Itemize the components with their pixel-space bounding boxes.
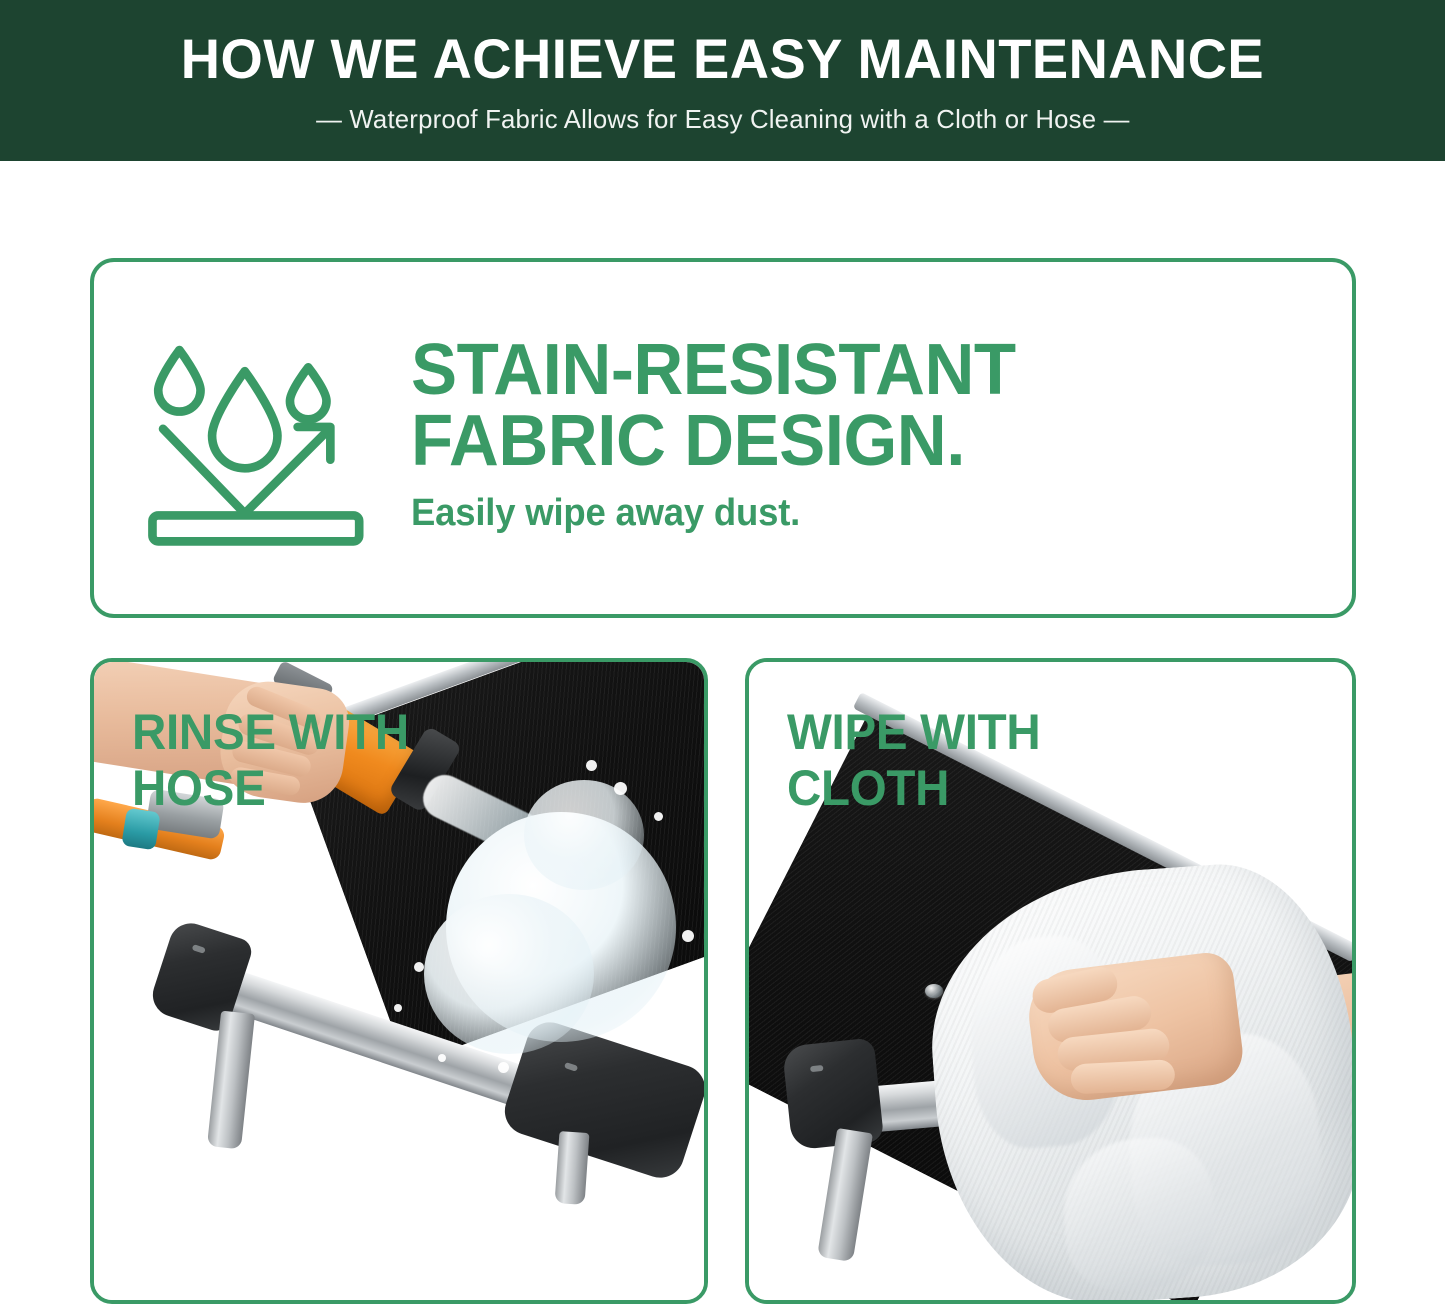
cloth-fold <box>1059 1134 1219 1294</box>
photo-hand-wiping-pet-cot-with-cloth <box>749 662 1352 1300</box>
feature-heading-line2: FABRIC DESIGN. <box>411 406 1016 477</box>
feature-subheading: Easily wipe away dust. <box>411 492 1016 535</box>
hand-holding-cloth <box>1024 950 1247 1106</box>
water-droplet <box>586 760 597 771</box>
finger <box>1070 1059 1175 1094</box>
water-splash <box>524 780 644 890</box>
header-banner: HOW WE ACHIEVE EASY MAINTENANCE — Waterp… <box>0 0 1445 161</box>
water-droplet <box>438 1054 446 1062</box>
water-droplet <box>614 782 627 795</box>
feature-heading-line1: STAIN-RESISTANT <box>411 335 1016 406</box>
water-droplet <box>394 1004 402 1012</box>
hose-quick-connect <box>121 808 161 851</box>
cot-leg <box>817 1128 873 1262</box>
feature-card-content: STAIN-RESISTANT FABRIC DESIGN. Easily wi… <box>94 321 1352 556</box>
water-droplet <box>414 962 424 972</box>
infographic-page: HOW WE ACHIEVE EASY MAINTENANCE — Waterp… <box>0 0 1445 1316</box>
water-droplet <box>498 1062 509 1073</box>
step-card-wipe: WIPE WITH CLOTH <box>745 658 1356 1304</box>
step-card-rinse: RINSE WITH HOSE <box>90 658 708 1304</box>
page-subtitle: — Waterproof Fabric Allows for Easy Clea… <box>316 104 1129 135</box>
cot-leg <box>207 1011 255 1150</box>
page-title: HOW WE ACHIEVE EASY MAINTENANCE <box>181 30 1264 89</box>
water-droplet <box>654 992 663 1001</box>
feature-card-stain-resistant: STAIN-RESISTANT FABRIC DESIGN. Easily wi… <box>90 258 1356 618</box>
photo-hose-rinsing-pet-cot <box>94 662 704 1300</box>
water-repellent-fabric-icon <box>139 321 389 556</box>
hand-gripping-nozzle <box>215 676 354 808</box>
corner-screw-icon <box>564 1062 578 1072</box>
feature-text-block: STAIN-RESISTANT FABRIC DESIGN. Easily wi… <box>411 335 1041 541</box>
water-droplet <box>654 812 663 821</box>
water-droplet <box>682 930 694 942</box>
cot-leg <box>555 1131 590 1205</box>
water-splash <box>424 894 594 1054</box>
water-bead <box>925 984 943 998</box>
corner-screw-icon <box>192 944 206 954</box>
corner-screw-icon <box>810 1065 824 1072</box>
